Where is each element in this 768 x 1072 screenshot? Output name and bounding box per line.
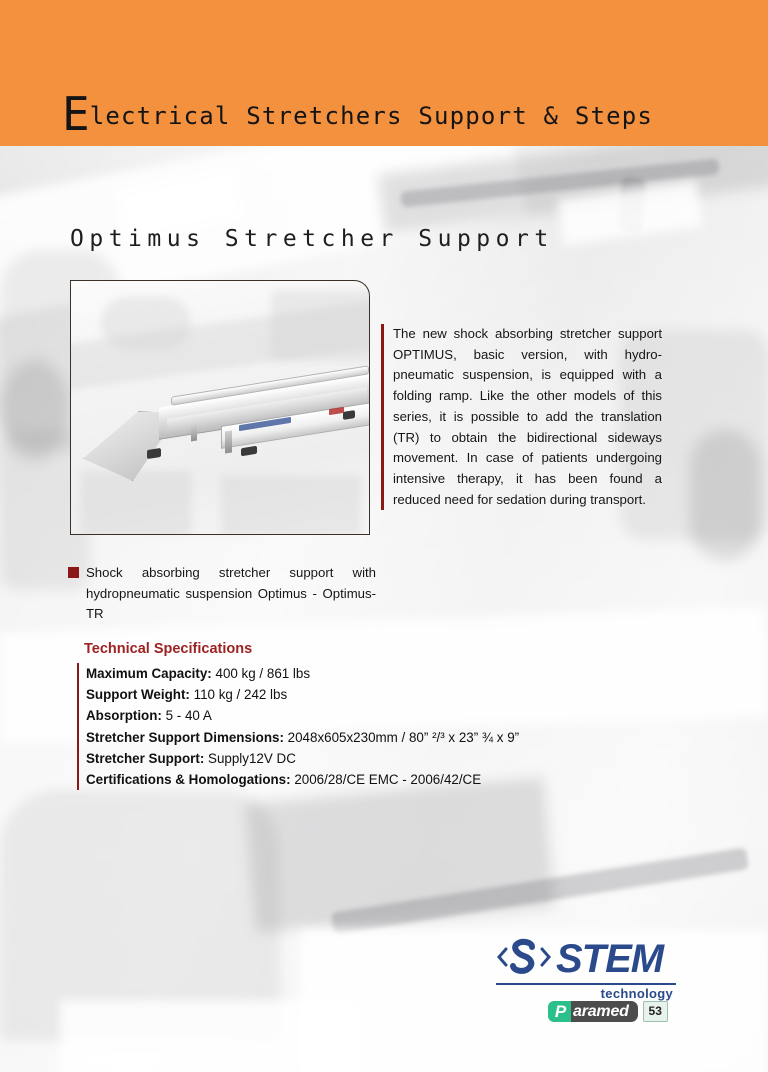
spec-row: Support Weight: 110 kg / 242 lbs xyxy=(86,684,519,705)
stem-wordmark: STEM xyxy=(556,939,663,979)
spec-row: Absorption: 5 - 40 A xyxy=(86,705,519,726)
spec-key: Support Weight: xyxy=(86,687,190,702)
spec-value: 2048x605x230mm / 80” ²/³ x 23” ¾ x 9” xyxy=(288,730,519,745)
spec-key: Maximum Capacity: xyxy=(86,666,212,681)
stem-tagline: technology xyxy=(496,986,676,1001)
page-number: 53 xyxy=(643,1001,668,1022)
product-photo xyxy=(71,281,369,534)
section-title: Optimus Stretcher Support xyxy=(70,226,554,252)
spec-row: Stretcher Support Dimensions: 2048x605x2… xyxy=(86,727,519,748)
spec-key: Stretcher Support Dimensions: xyxy=(86,730,284,745)
stem-technology-logo: STEM technology xyxy=(496,936,676,1001)
feature-bullet-item: Shock absorbing stretcher support with h… xyxy=(68,563,376,625)
feature-bullet-text: Shock absorbing stretcher support with h… xyxy=(86,563,376,625)
square-bullet-icon xyxy=(68,567,79,578)
spec-value: 400 kg / 861 lbs xyxy=(216,666,311,681)
paramed-wordmark: aramed xyxy=(571,1001,638,1022)
spec-key: Stretcher Support: xyxy=(86,751,204,766)
brochure-page: Electrical Stretchers Support & Steps Op… xyxy=(0,0,768,1072)
title-rest: lectrical Stretchers Support & Steps xyxy=(90,102,653,130)
paramed-badge-letter: P xyxy=(555,1003,566,1020)
stem-logo-rule xyxy=(496,983,676,985)
spec-key: Certifications & Homologations: xyxy=(86,772,291,787)
spec-row: Maximum Capacity: 400 kg / 861 lbs xyxy=(86,663,519,684)
spec-row: Stretcher Support: Supply12V DC xyxy=(86,748,519,769)
product-photo-frame xyxy=(70,280,370,535)
specs-list: Maximum Capacity: 400 kg / 861 lbs Suppo… xyxy=(77,663,519,790)
page-title: Electrical Stretchers Support & Steps xyxy=(62,98,653,130)
spec-value: 2006/28/CE EMC - 2006/42/CE xyxy=(294,772,481,787)
spec-value: 110 kg / 242 lbs xyxy=(194,687,288,702)
paramed-logo: P aramed 53 xyxy=(548,1001,668,1022)
page-header-band: Electrical Stretchers Support & Steps xyxy=(0,0,768,146)
paramed-badge-icon: P xyxy=(548,1001,571,1022)
description-text: The new shock absorbing stretcher suppor… xyxy=(393,324,662,510)
spec-row: Certifications & Homologations: 2006/28/… xyxy=(86,769,519,790)
title-dropcap: E xyxy=(62,87,90,141)
stem-swoosh-icon xyxy=(496,937,552,982)
specs-heading: Technical Specifications xyxy=(84,641,252,657)
description-block: The new shock absorbing stretcher suppor… xyxy=(381,324,662,510)
spec-key: Absorption: xyxy=(86,708,162,723)
spec-value: 5 - 40 A xyxy=(166,708,212,723)
spec-value: Supply12V DC xyxy=(208,751,296,766)
background-photo xyxy=(0,0,768,1072)
